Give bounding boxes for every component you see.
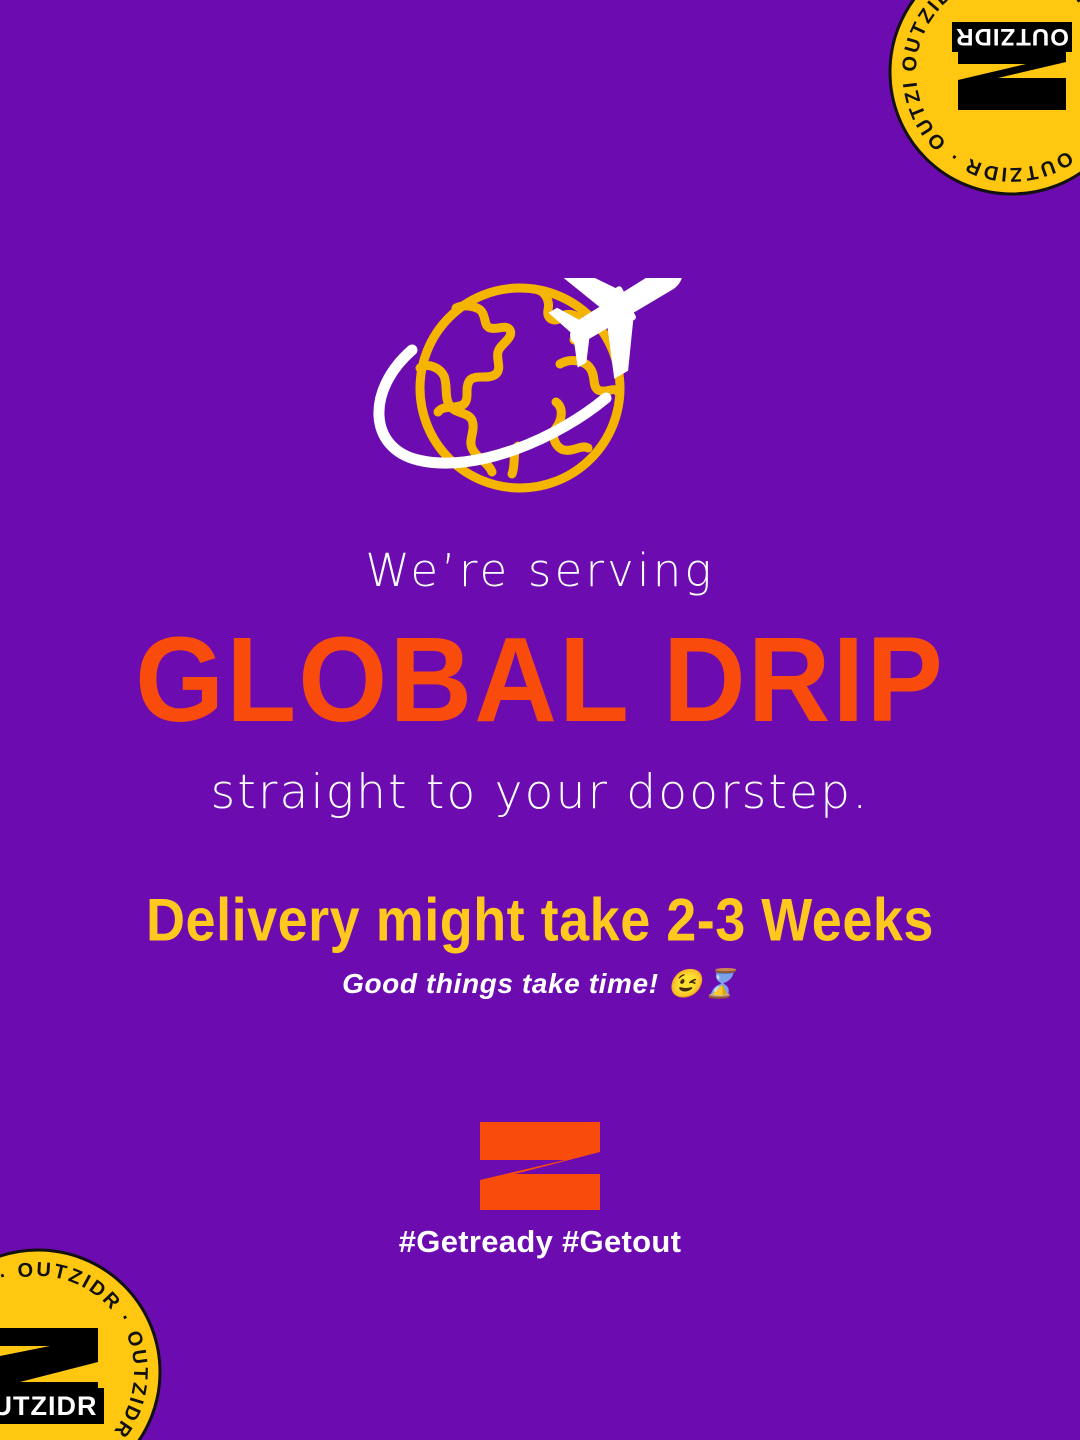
serving-line: We’re serving: [0, 548, 1080, 593]
footer-brand: #Getready #Getout: [0, 1120, 1080, 1257]
hashtags: #Getready #Getout: [0, 1226, 1080, 1257]
poster-canvas: OUTZIDR · OUTZIDR · OUTZIDR · OUTZIDR · …: [0, 0, 1080, 1440]
badge-wordmark-top-right: OUTZIDR: [955, 23, 1069, 50]
outzidr-badge-top-right: OUTZIDR · OUTZIDR · OUTZIDR · OUTZIDR · …: [882, 0, 1080, 202]
headline-group: We’re serving GLOBAL DRIP straight to yo…: [0, 548, 1080, 998]
delivery-estimate: Delivery might take 2-3 Weeks: [0, 890, 1080, 950]
outzidr-badge-bottom-left: OUTZIDR · OUTZIDR · OUTZIDR · OUTZIDR · …: [0, 1242, 168, 1440]
badge-wordmark-bottom-left: OUTZIDR: [0, 1391, 97, 1421]
z-logo: [477, 1120, 603, 1212]
page-title: GLOBAL DRIP: [0, 619, 1080, 740]
doorstep-line: straight to your doorstep.: [0, 769, 1080, 816]
delivery-note: Good things take time! 😉⌛: [0, 970, 1080, 998]
globe-airplane-icon: [360, 278, 710, 510]
